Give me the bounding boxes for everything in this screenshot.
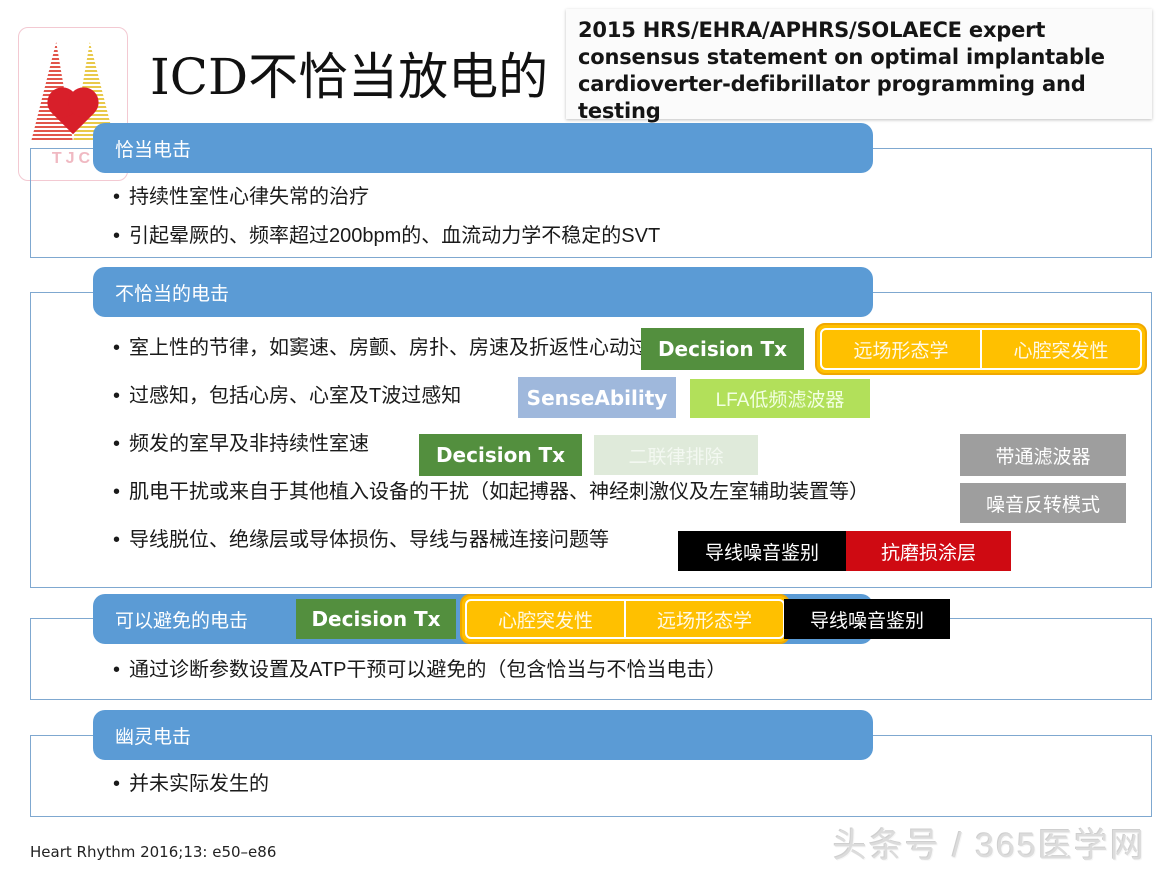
badge-abrasion-resistant-coating[interactable]: 抗磨损涂层 <box>846 531 1011 571</box>
badge-far-field-morphology-1[interactable]: 远场形态学 <box>822 330 980 368</box>
badge-lead-noise-discrimination-1[interactable]: 导线噪音鉴别 <box>678 531 846 571</box>
badge-noise-reversion-mode[interactable]: 噪音反转模式 <box>960 483 1126 523</box>
section-header-label: 恰当电击 <box>115 135 191 162</box>
badge-decision-tx-2[interactable]: Decision Tx <box>419 434 582 476</box>
badge-chamber-onset-2[interactable]: 心腔突发性 <box>467 601 624 637</box>
list-item: • 持续性室性心律失常的治疗 <box>113 185 660 210</box>
bullet-dot-icon: • <box>113 185 129 210</box>
list-item: • 并未实际发生的 <box>113 772 269 797</box>
list-item: • 肌电干扰或来自于其他植入设备的干扰（如起搏器、神经刺激仪及左室辅助装置等） <box>113 480 869 505</box>
section-header-inappropriate-shock: 不恰当的电击 <box>93 267 873 317</box>
citation-overlay: 2015 HRS/EHRA/APHRS/SOLAECE expert conse… <box>566 9 1152 119</box>
badge-far-field-morphology-2[interactable]: 远场形态学 <box>624 601 783 637</box>
list-item: • 引起晕厥的、频率超过200bpm的、血流动力学不稳定的SVT <box>113 224 660 249</box>
section-header-label: 不恰当的电击 <box>115 279 229 306</box>
section-header-label: 幽灵电击 <box>115 722 191 749</box>
badge-chamber-onset-1[interactable]: 心腔突发性 <box>980 330 1140 368</box>
section-header-phantom-shock: 幽灵电击 <box>93 710 873 760</box>
badge-lfa-filter[interactable]: LFA低频滤波器 <box>690 379 870 418</box>
slide-canvas: TJC ICD不恰当放电的 2015 HRS/EHRA/APHRS/SOLAEC… <box>0 0 1164 869</box>
section-bullets-phantom-shock: • 并未实际发生的 <box>113 772 269 797</box>
watermark: 头条号 / 365医学网 <box>833 818 1146 867</box>
section-bullets-appropriate-shock: • 持续性室性心律失常的治疗 • 引起晕厥的、频率超过200bpm的、血流动力学… <box>113 185 660 263</box>
bullet-dot-icon: • <box>113 432 129 457</box>
badge-decision-tx-1[interactable]: Decision Tx <box>641 328 804 370</box>
section-header-appropriate-shock: 恰当电击 <box>93 123 873 173</box>
section-bullets-avoidable-shock: • 通过诊断参数设置及ATP干预可以避免的（包含恰当与不恰当电击） <box>113 658 726 683</box>
bullet-dot-icon: • <box>113 528 129 553</box>
badge-bigeminy-exclusion[interactable]: 二联律排除 <box>594 435 758 475</box>
footer-reference: Heart Rhythm 2016;13: e50–e86 <box>30 843 276 861</box>
list-item: • 通过诊断参数设置及ATP干预可以避免的（包含恰当与不恰当电击） <box>113 658 726 683</box>
badge-lead-noise-discrimination-2[interactable]: 导线噪音鉴别 <box>784 599 950 639</box>
badge-decision-tx-3[interactable]: Decision Tx <box>296 599 456 639</box>
bullet-dot-icon: • <box>113 336 129 361</box>
bullet-dot-icon: • <box>113 480 129 505</box>
badge-group-orange-2[interactable]: 心腔突发性 远场形态学 <box>460 594 790 644</box>
badge-sense-ability[interactable]: SenseAbility <box>518 377 676 418</box>
section-header-label: 可以避免的电击 <box>115 606 248 633</box>
bullet-dot-icon: • <box>113 384 129 409</box>
page-title: ICD不恰当放电的 <box>150 52 548 102</box>
bullet-dot-icon: • <box>113 224 129 249</box>
bullet-dot-icon: • <box>113 772 129 797</box>
bullet-dot-icon: • <box>113 658 129 683</box>
badge-bandpass-filter[interactable]: 带通滤波器 <box>960 434 1126 476</box>
badge-group-orange-1[interactable]: 远场形态学 心腔突发性 <box>815 323 1147 375</box>
